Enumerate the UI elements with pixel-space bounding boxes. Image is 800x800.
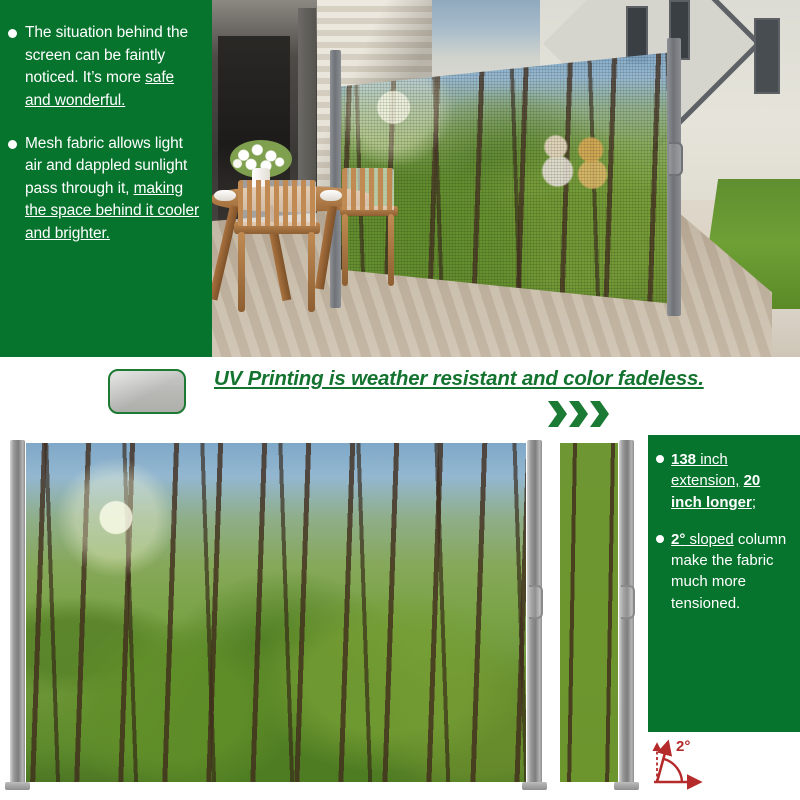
- spec-value-extension: 138: [671, 451, 696, 468]
- narrow-screen-panel: [556, 440, 638, 785]
- chair-leg: [238, 232, 245, 312]
- angle-arc: [664, 759, 682, 782]
- screen-post-handle: [669, 142, 683, 176]
- post-foot: [5, 782, 30, 790]
- top-section: The situation behind the screen can be f…: [0, 0, 800, 357]
- tea-cup: [214, 190, 236, 201]
- post-handle-icon: [529, 585, 543, 619]
- angle-2-degree-diagram: 2°: [648, 736, 740, 792]
- angle-diagram-svg: [648, 736, 740, 792]
- fabric-swatch-thumbnail: [108, 369, 186, 414]
- feature-bullet-visibility: The situation behind the screen can be f…: [8, 22, 202, 113]
- feature-panel: The situation behind the screen can be f…: [0, 0, 212, 357]
- chevron-right-icon: [590, 401, 609, 427]
- post-foot: [614, 782, 639, 790]
- spec-value-angle: 2°: [671, 531, 685, 548]
- feature-bullet-text: Mesh fabric allows light air and dappled…: [25, 133, 202, 246]
- spec-bullet-text: 138 inch extension, 20 inch longer;: [671, 449, 792, 513]
- wide-screen-panel: [8, 440, 548, 785]
- bullet-dot-icon: [656, 535, 664, 543]
- post-handle-icon: [621, 585, 635, 619]
- spec-panel: 138 inch extension, 20 inch longer; 2° s…: [648, 435, 800, 732]
- feature-bullet-mesh-fabric: Mesh fabric allows light air and dappled…: [8, 133, 202, 246]
- panel-fabric-print: [26, 443, 526, 782]
- uv-printing-headline: UV Printing is weather resistant and col…: [214, 367, 794, 391]
- forest-print-art: [26, 443, 526, 782]
- house-window: [754, 18, 780, 94]
- panel-left-post: [10, 440, 25, 785]
- chair-back: [238, 180, 316, 226]
- forest-print-art: [560, 443, 618, 782]
- spec-bullet-text: 2° sloped column make the fabric much mo…: [671, 529, 792, 614]
- chevron-right-icon: [548, 401, 567, 427]
- bullet-dot-icon: [656, 455, 664, 463]
- chair-leg: [388, 214, 394, 286]
- chair-back: [342, 168, 394, 210]
- spec-label-sloped: sloped: [685, 531, 733, 548]
- spec-bullet-sloped-column: 2° sloped column make the fabric much mo…: [656, 529, 792, 614]
- chair-leg: [308, 232, 315, 312]
- spec-tail: ;: [752, 494, 756, 511]
- feature-bullet-text: The situation behind the screen can be f…: [25, 22, 202, 113]
- post-foot: [522, 782, 547, 790]
- tilted-column-arrow: [657, 742, 668, 782]
- screen-right-post: [667, 38, 681, 316]
- bullet-dot-icon: [8, 140, 17, 149]
- product-panels-photo: [8, 440, 638, 785]
- tea-cup: [320, 190, 342, 201]
- bullet-dot-icon: [8, 29, 17, 38]
- spec-bullet-extension-length: 138 inch extension, 20 inch longer;: [656, 449, 792, 513]
- angle-value-label: 2°: [676, 738, 690, 755]
- chair-leg: [342, 214, 348, 286]
- chevron-right-icon: [569, 401, 588, 427]
- panel-fabric-print: [560, 443, 618, 782]
- table-leg: [315, 205, 337, 289]
- chevron-arrow-group: [548, 401, 609, 427]
- product-infographic: The situation behind the screen can be f…: [0, 0, 800, 800]
- panel-right-post: [619, 440, 634, 785]
- hero-patio-photo: [212, 0, 800, 357]
- uv-printing-band: UV Printing is weather resistant and col…: [0, 357, 800, 435]
- panel-right-post: [527, 440, 542, 785]
